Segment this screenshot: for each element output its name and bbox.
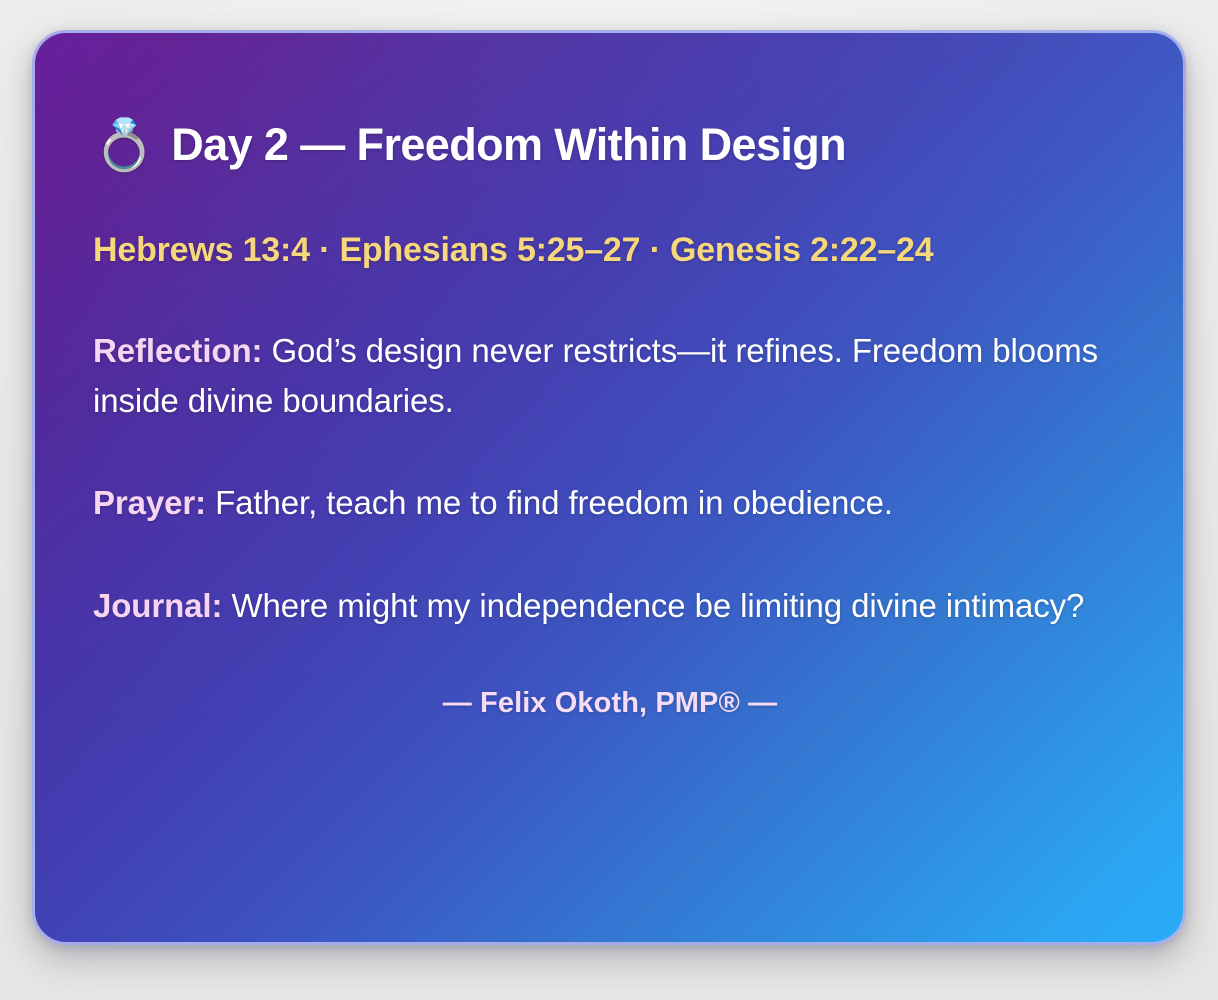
journal-label: Journal: (93, 587, 222, 624)
journal-text: Where might my independence be limiting … (222, 587, 1084, 624)
card-title-row: 💍 Day 2 — Freedom Within Design (93, 91, 1127, 200)
prayer-label: Prayer: (93, 484, 206, 521)
card-content: 💍 Day 2 — Freedom Within Design Hebrews … (35, 33, 1183, 720)
prayer-text: Father, teach me to find freedom in obed… (206, 484, 893, 521)
reflection-block: Reflection: God’s design never restricts… (93, 326, 1123, 426)
ring-icon: 💍 (93, 120, 155, 170)
page-stage: 💍 Day 2 — Freedom Within Design Hebrews … (0, 0, 1218, 1000)
journal-block: Journal: Where might my independence be … (93, 581, 1123, 631)
devotional-card: 💍 Day 2 — Freedom Within Design Hebrews … (32, 30, 1186, 945)
author-signature: — Felix Okoth, PMP® — (93, 687, 1127, 720)
page-title: Day 2 — Freedom Within Design (171, 121, 846, 170)
reflection-label: Reflection: (93, 332, 262, 369)
prayer-block: Prayer: Father, teach me to find freedom… (93, 478, 973, 528)
scripture-references: Hebrews 13:4 · Ephesians 5:25–27 · Genes… (93, 226, 1098, 274)
